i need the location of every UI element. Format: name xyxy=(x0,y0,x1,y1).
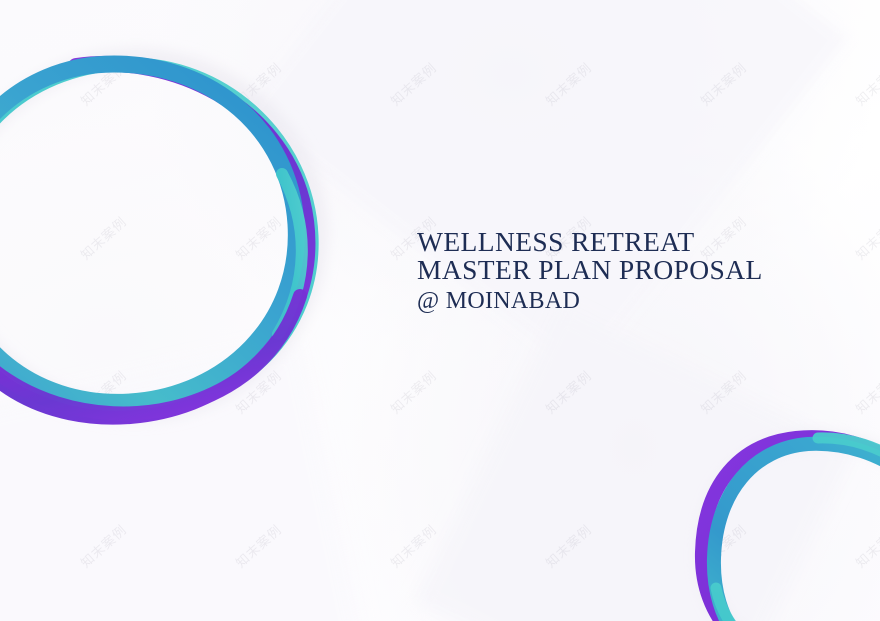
slide-title-block: WELLNESS RETREAT MASTER PLAN PROPOSAL @ … xyxy=(417,228,847,316)
title-line-2: MASTER PLAN PROPOSAL xyxy=(417,256,847,284)
presentation-slide: 知末案例知末案例知末案例知末案例知末案例知末案例知末案例知末案例知末案例知末案例… xyxy=(0,0,880,621)
title-line-location: @ MOINABAD xyxy=(417,284,847,316)
title-line-1: WELLNESS RETREAT xyxy=(417,228,847,256)
